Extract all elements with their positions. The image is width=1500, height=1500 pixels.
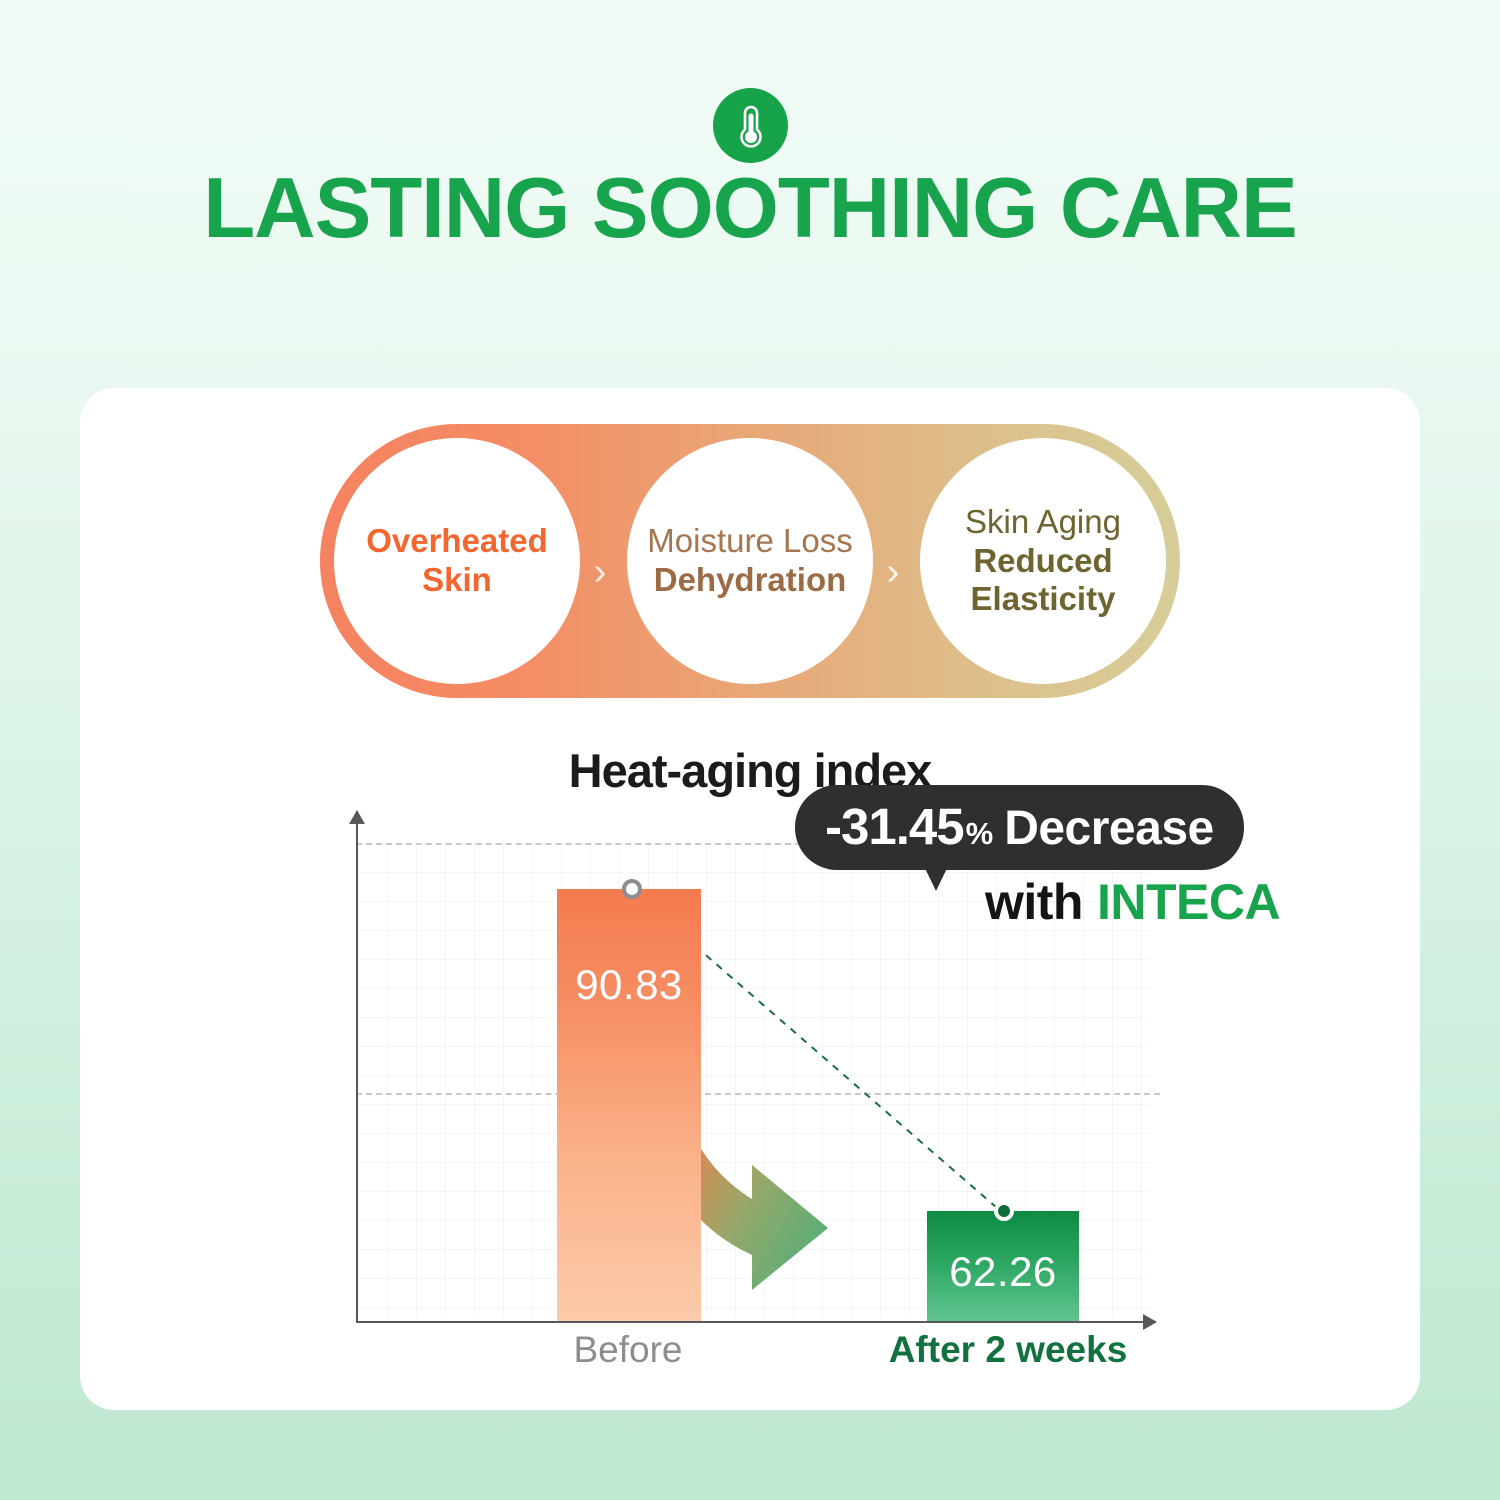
decrease-word: Decrease xyxy=(1004,801,1214,856)
flow-pill: Overheated Skin › Moisture Loss Dehydrat… xyxy=(320,424,1180,698)
callout-tail xyxy=(920,858,952,891)
flow-step-line2: Dehydration xyxy=(654,561,847,600)
thermometer-icon xyxy=(713,88,788,163)
chevron-right-icon-2: › xyxy=(878,549,908,595)
decrease-callout: -31.45 % Decrease xyxy=(795,785,1244,870)
x-axis-label-before: Before xyxy=(498,1331,758,1368)
bar-value-after: 62.26 xyxy=(927,1248,1079,1296)
brand-line: withINTECA xyxy=(985,873,1280,931)
bar-before: 90.83 xyxy=(557,889,701,1321)
flow-step-moisture-loss: Moisture Loss Dehydration xyxy=(627,438,873,684)
flow-step-line1: Skin Aging xyxy=(965,503,1121,542)
flow-step-line2: Reduced xyxy=(973,542,1112,581)
x-axis-label-after: After 2 weeks xyxy=(858,1331,1158,1368)
content-card: Overheated Skin › Moisture Loss Dehydrat… xyxy=(80,388,1420,1410)
bar-value-before: 90.83 xyxy=(557,961,701,1009)
flow-step-line3: Elasticity xyxy=(971,580,1116,619)
with-text: with xyxy=(985,874,1083,930)
poster: LASTING SOOTHING CARE Overheated Skin › … xyxy=(0,0,1500,1500)
flow-step-line1: Moisture Loss xyxy=(647,522,852,561)
data-point-before xyxy=(622,879,642,899)
decrease-value: -31.45 xyxy=(825,797,964,856)
x-axis xyxy=(356,1321,1156,1323)
data-point-after xyxy=(994,1201,1014,1221)
chevron-right-icon-1: › xyxy=(585,549,615,595)
brand-name: INTECA xyxy=(1097,874,1280,930)
flow-step-overheated-skin: Overheated Skin xyxy=(334,438,580,684)
flow-step-line1: Overheated xyxy=(366,522,548,561)
bar-after: 62.26 xyxy=(927,1211,1079,1321)
gridline-mid xyxy=(356,1093,1160,1095)
page-title: LASTING SOOTHING CARE xyxy=(0,166,1500,251)
flow-step-skin-aging: Skin Aging Reduced Elasticity xyxy=(920,438,1166,684)
flow-step-line2: Skin xyxy=(422,561,492,600)
y-axis xyxy=(356,811,358,1321)
percent-symbol: % xyxy=(966,816,994,852)
